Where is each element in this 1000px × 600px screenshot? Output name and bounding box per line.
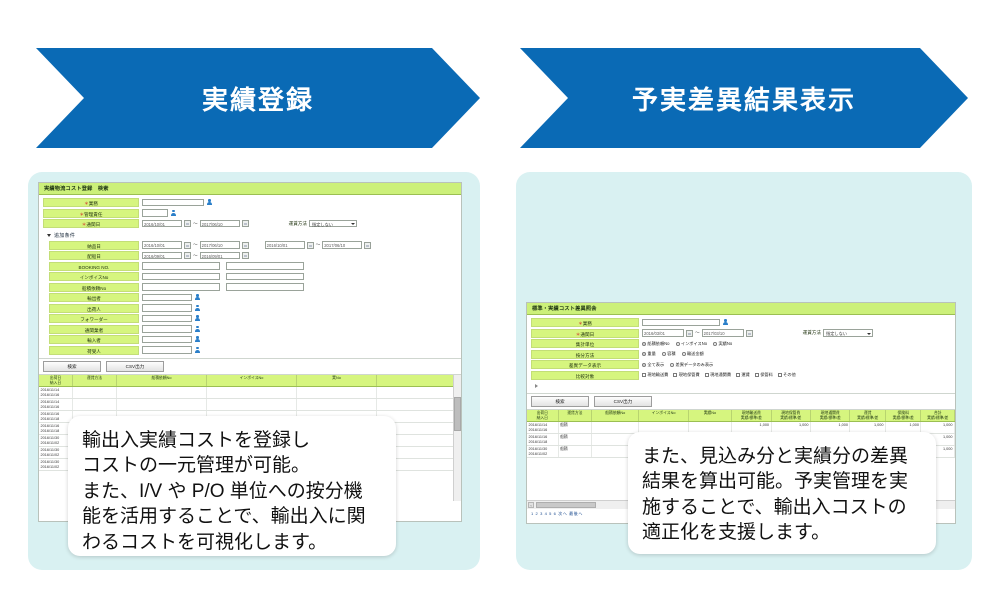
left-col-0: 出荷日 納入日	[39, 375, 73, 386]
right-transport-label: 運賃方法	[803, 330, 821, 336]
range-separator: ～	[695, 330, 700, 336]
calendar-icon[interactable]	[686, 330, 693, 337]
left-date-from[interactable]: 2016/10/01	[142, 220, 182, 228]
right-csv-button[interactable]: CSV出力	[594, 396, 652, 407]
right-input-0[interactable]	[642, 319, 720, 327]
left-search-form: ＊業務 ＊管理責任 ＊通関日 2016/10/	[39, 195, 461, 358]
right-field-shukei-tani[interactable]: 集計単位 船積依頼No インボイスNo 実績No	[531, 339, 951, 348]
left-field-yushutsusha[interactable]: 輸出者	[49, 293, 457, 302]
left-extra-label-9: 輸入者	[87, 338, 101, 343]
left-field-yunyusha[interactable]: 輸入者	[49, 335, 457, 344]
left-extra-label-8: 通関業者	[85, 328, 103, 333]
person-picker-icon[interactable]	[194, 305, 201, 312]
left-field-invoice[interactable]: インボイスNo	[49, 272, 457, 281]
range-separator: ～	[193, 221, 198, 227]
right-col-6: 現地保管費 実績/標準/差	[772, 410, 811, 421]
checkbox-hikaku-1[interactable]: 現地保管費	[673, 372, 699, 378]
left-col-2: 船積依頼No	[117, 375, 207, 386]
radio-sai-1[interactable]: 差異データのみ表示	[670, 362, 713, 368]
left-extra-label-4: 船積依頼No	[82, 286, 106, 291]
left-csv-button[interactable]: CSV出力	[106, 361, 164, 372]
left-extra-label-7: フォワーダー	[80, 317, 108, 322]
banner-variance-display: 予実差異結果表示	[520, 48, 968, 148]
left-extra-label-2: BOOKING NO.	[79, 265, 110, 270]
right-col-10: 合計 実績/標準/差	[921, 410, 955, 421]
left-field-funazumi[interactable]: 船積依頼No	[49, 283, 457, 292]
left-extra-input-4a[interactable]	[142, 283, 220, 291]
right-field-tsukanbi[interactable]: ＊通関日 2016/03/01 ～ 2017/03/10 運賃方法 指定しない	[531, 329, 951, 338]
right-cell-method: 船積	[559, 434, 593, 445]
slide-root: 実績登録 予実差異結果表示 実績物流コスト登録 検索 ＊業務 ＊管理責任	[0, 0, 1000, 600]
left-extra-from-1[interactable]: 2016/09/01	[142, 252, 182, 260]
person-picker-icon[interactable]	[722, 319, 729, 326]
left-extra-label-10: 荷受人	[87, 349, 101, 354]
radio-anbun-1[interactable]: 容積	[662, 351, 676, 357]
left-extra-to-0[interactable]: 2017/06/10	[200, 241, 240, 249]
left-app-title: 実績物流コスト登録 検索	[39, 183, 461, 195]
right-cell-method: 船積	[559, 422, 593, 433]
left-field-forwarder[interactable]: フォワーダー	[49, 314, 457, 323]
left-col-1: 運賃方法	[73, 375, 117, 386]
left-transport-select[interactable]: 指定しない	[309, 220, 357, 228]
radio-shukei-2[interactable]: 実績No	[713, 341, 732, 347]
checkbox-hikaku-3[interactable]: 運賃	[736, 372, 750, 378]
right-checkbox-label: 比較対象	[576, 374, 594, 379]
table-row[interactable]: 2016/11/14 2016/11/16	[39, 399, 461, 411]
radio-shukei-0[interactable]: 船積依頼No	[642, 341, 670, 347]
right-cell-date: 2016/11/16 2016/11/18	[527, 434, 559, 445]
range-separator: ～	[193, 242, 198, 248]
left-field-kanri[interactable]: ＊管理責任	[43, 209, 457, 218]
right-app-title: 標準・実績コスト差異照会	[527, 303, 955, 315]
left-grid-vertical-scrollbar[interactable]	[453, 375, 461, 501]
left-cell-date: 2016/11/14 2016/11/16	[39, 399, 73, 410]
chevron-down-icon	[47, 234, 51, 237]
right-col-4: 実績No	[689, 410, 732, 421]
left-col-3: インボイスNo	[207, 375, 297, 386]
left-col-4: 実No	[297, 375, 377, 386]
right-col-8: 運賃 実績/標準/差	[850, 410, 886, 421]
right-col-9: 保険料 実績/標準/差	[886, 410, 922, 421]
callout-left-description: 輸出入実績コストを登録し コストの一元管理が可能。 また、I/V や P/O 単…	[68, 416, 396, 556]
left-button-bar: 検索 CSV出力	[39, 358, 461, 374]
left-extra-input-2a[interactable]	[142, 262, 220, 270]
right-cell-date: 2016/11/14 2016/11/16	[527, 422, 559, 433]
person-picker-icon[interactable]	[206, 199, 213, 206]
left-field-booking[interactable]: BOOKING NO.	[49, 262, 457, 271]
calendar-icon[interactable]	[242, 242, 249, 249]
left-date-to[interactable]: 2017/06/10	[200, 220, 240, 228]
right-date-to[interactable]: 2017/03/10	[702, 329, 744, 337]
person-picker-icon[interactable]	[194, 336, 201, 343]
range-separator: ～	[193, 253, 198, 259]
right-field-anbun[interactable]: 按分方法 重量 容積 輸送金額	[531, 350, 951, 359]
left-label-2: 通関日	[86, 222, 100, 227]
right-cell-method: 船積	[559, 446, 593, 457]
calendar-icon[interactable]	[242, 252, 249, 259]
right-col-2: 船積依頼No	[592, 410, 639, 421]
right-col-1: 運賃方法	[559, 410, 593, 421]
calendar-icon[interactable]	[184, 242, 191, 249]
left-cell-date: 2016/11/16 2016/11/18	[39, 411, 73, 422]
right-cell-date: 2016/11/30 2016/11/02	[527, 446, 559, 457]
chevron-right-icon	[535, 384, 540, 388]
right-label-1: 通関日	[580, 332, 594, 337]
right-section-toggle[interactable]	[531, 381, 951, 391]
right-transport-select[interactable]: 指定しない	[823, 329, 873, 337]
left-field-tsukangyosha[interactable]: 通関業者	[49, 325, 457, 334]
left-extra-input-5[interactable]	[142, 294, 192, 302]
left-extra-label-1: 配船日	[87, 254, 101, 259]
left-extra-to-0b[interactable]: 2017/06/10	[322, 241, 362, 249]
left-field-gyomu[interactable]: ＊業務	[43, 198, 457, 207]
right-field-hikaku[interactable]: 比較対象 現地輸送費 現地保管費 現地通関費 運賃 保管料 その他	[531, 371, 951, 380]
left-extra-input-3b[interactable]	[226, 273, 304, 281]
left-extra-input-2b[interactable]	[226, 262, 304, 270]
banner-actual-registration: 実績登録	[36, 48, 480, 148]
left-extra-input-10[interactable]	[142, 346, 192, 354]
checkbox-hikaku-0[interactable]: 現地輸送費	[642, 372, 668, 378]
left-extra-from-0b[interactable]: 2016/10/01	[265, 241, 305, 249]
radio-anbun-2[interactable]: 輸送金額	[682, 351, 704, 357]
calendar-icon[interactable]	[364, 242, 371, 249]
left-extra-from-0[interactable]: 2016/10/01	[142, 241, 182, 249]
left-input-0[interactable]	[142, 199, 204, 207]
left-extra-label-3: インボイスNo	[80, 275, 109, 280]
right-grid-header: 出荷日 納入日 運賃方法 船積依頼No インボイスNo 実績No 現地輸送費 実…	[527, 410, 955, 422]
right-radio-label-2: 差異データ表示	[569, 363, 601, 368]
left-extra-input-6[interactable]	[142, 304, 192, 312]
left-input-1[interactable]	[142, 209, 168, 217]
right-field-sai-display[interactable]: 差異データ表示 全て表示 差異データのみ表示	[531, 360, 951, 369]
right-field-gyomu[interactable]: ＊業務	[531, 318, 951, 327]
right-search-form: ＊業務 ＊通関日 2016/03/01 ～ 2017/03/10	[527, 315, 955, 393]
right-date-from[interactable]: 2016/03/01	[642, 329, 684, 337]
left-cell-date: 2016/11/14 2016/11/16	[39, 387, 73, 398]
right-col-7: 現地通関費 実績/標準/差	[811, 410, 850, 421]
checkbox-hikaku-2[interactable]: 現地通関費	[705, 372, 731, 378]
right-col-5: 現地輸送費 実績/標準/差	[732, 410, 771, 421]
left-extra-input-9[interactable]	[142, 336, 192, 344]
left-field-tsukanbi[interactable]: ＊通関日 2016/10/01 ～ 2017/06/10 運賃方法 指定しない	[43, 219, 457, 228]
scrollbar-thumb[interactable]	[454, 397, 461, 431]
calendar-icon[interactable]	[184, 252, 191, 259]
right-label-0: 業務	[583, 321, 592, 326]
left-extra-input-3a[interactable]	[142, 273, 220, 281]
checkbox-hikaku-4[interactable]: 保管料	[755, 372, 773, 378]
left-transport-label: 運賃方法	[289, 221, 307, 227]
calendar-icon[interactable]	[184, 220, 191, 227]
left-extra-label-5: 輸出者	[87, 296, 101, 301]
right-radio-label-1: 按分方法	[576, 353, 594, 358]
left-search-button[interactable]: 検索	[43, 361, 101, 372]
scrollbar-thumb[interactable]	[536, 502, 596, 508]
calendar-icon[interactable]	[242, 220, 249, 227]
left-extra-label-6: 出荷人	[87, 307, 101, 312]
left-field-haisenbi[interactable]: 配船日 2016/09/01 ～ 2016/09/01	[49, 251, 457, 260]
radio-shukei-1[interactable]: インボイスNo	[676, 341, 708, 347]
callout-right-description: また、見込み分と実績分の差異 結果を算出可能。予実管理を実 施することで、輸出入…	[628, 432, 936, 554]
checkbox-hikaku-5[interactable]: その他	[778, 372, 796, 378]
person-picker-icon[interactable]	[194, 326, 201, 333]
right-col-0: 出荷日 納入日	[527, 410, 559, 421]
right-radio-label-0: 集計単位	[576, 342, 594, 347]
left-field-niukenin[interactable]: 荷受人	[49, 346, 457, 355]
calendar-icon[interactable]	[746, 330, 753, 337]
right-col-3: インボイスNo	[639, 410, 688, 421]
right-search-button[interactable]: 検索	[531, 396, 589, 407]
left-extra-input-8[interactable]	[142, 325, 192, 333]
left-section-additional[interactable]: 追加条件	[43, 230, 457, 241]
person-picker-icon[interactable]	[194, 315, 201, 322]
person-picker-icon[interactable]	[194, 347, 201, 354]
range-separator: ～	[316, 242, 321, 248]
right-button-bar: 検索 CSV出力	[527, 393, 955, 409]
left-grid-header: 出荷日 納入日 運賃方法 船積依頼No インボイスNo 実No	[39, 375, 461, 387]
table-row[interactable]: 2016/11/14 2016/11/16	[39, 387, 461, 399]
radio-sai-0[interactable]: 全て表示	[642, 362, 664, 368]
left-extra-to-1[interactable]: 2016/09/01	[200, 252, 240, 260]
left-section-label: 追加条件	[54, 233, 75, 239]
left-extra-label-0: 納品日	[87, 244, 101, 249]
left-extra-input-4b[interactable]	[226, 283, 304, 291]
radio-anbun-0[interactable]: 重量	[642, 351, 656, 357]
person-picker-icon[interactable]	[170, 210, 177, 217]
banner-left-label: 実績登録	[202, 80, 314, 117]
left-additional-fields: 納品日 2016/10/01 ～ 2017/06/10 2016/10/01 ～…	[43, 241, 457, 355]
scroll-left-arrow-icon[interactable]: ‹	[528, 502, 534, 508]
banner-right-label: 予実差異結果表示	[632, 80, 856, 117]
left-field-nouhinbi[interactable]: 納品日 2016/10/01 ～ 2017/06/10 2016/10/01 ～…	[49, 241, 457, 250]
calendar-icon[interactable]	[307, 242, 314, 249]
left-label-0: 業務	[89, 201, 98, 206]
person-picker-icon[interactable]	[194, 294, 201, 301]
left-label-1: 管理責任	[84, 212, 102, 217]
left-extra-input-7[interactable]	[142, 315, 192, 323]
left-field-shukkanin[interactable]: 出荷人	[49, 304, 457, 313]
